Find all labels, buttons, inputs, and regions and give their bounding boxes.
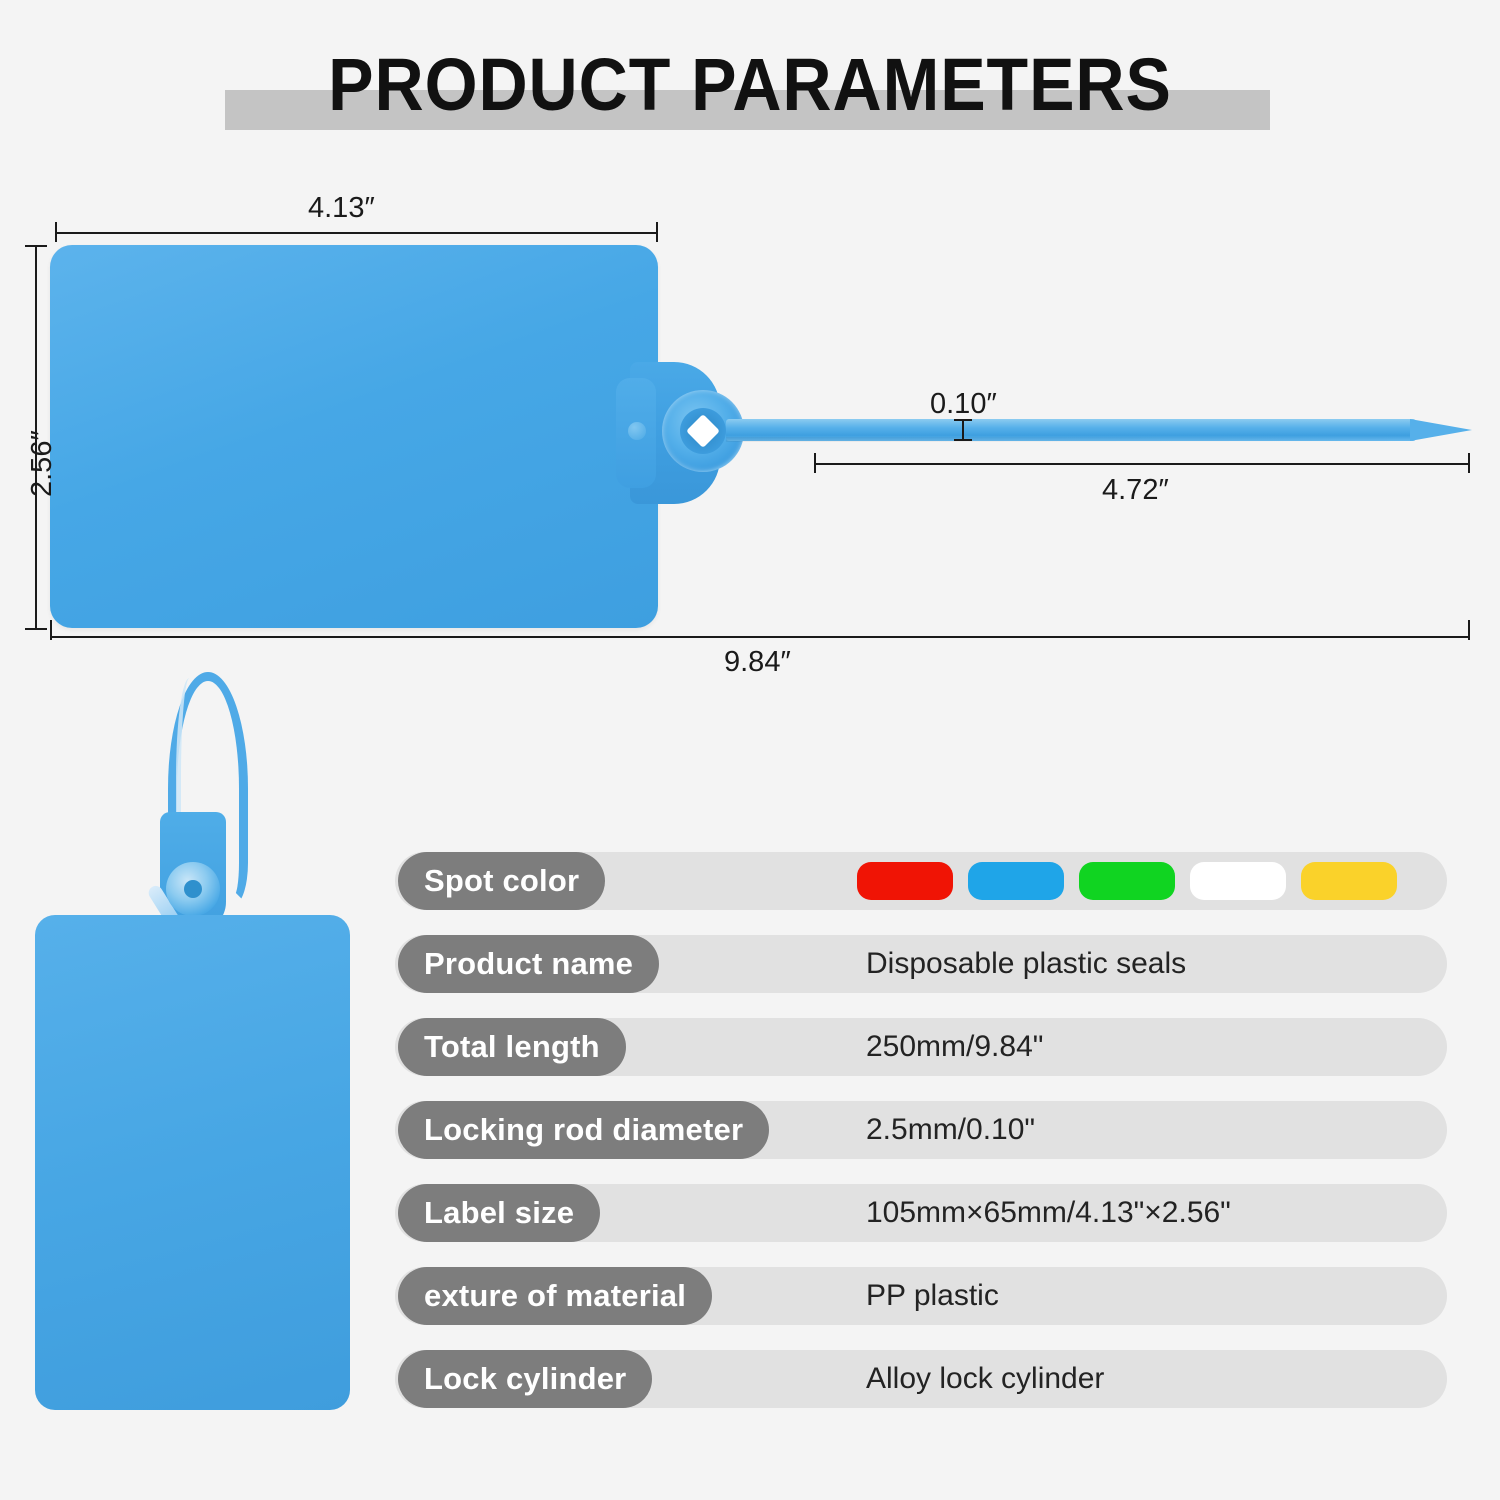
seal-photo-lock-head	[166, 862, 220, 916]
spec-label-product-name: Product name	[398, 935, 659, 993]
swatch-blue[interactable]	[968, 862, 1064, 900]
seal-lock-hole	[680, 408, 726, 454]
spot-color-swatches	[857, 852, 1397, 910]
table-row: Product name Disposable plastic seals	[395, 935, 1447, 993]
dimension-tick-rod-right	[1468, 453, 1470, 473]
dimension-label-width: 4.13″	[308, 192, 375, 225]
spec-table: Spot color Product name Disposable plast…	[395, 852, 1447, 1433]
dimension-tick-total-left	[50, 620, 52, 640]
dimension-line-rod-length	[814, 463, 1470, 465]
table-row: Total length 250mm/9.84"	[395, 1018, 1447, 1076]
dimension-line-total-length	[50, 636, 1470, 638]
dimension-tick-top	[25, 245, 47, 247]
seal-locking-rod-tip	[1410, 419, 1472, 441]
dimension-label-rod-length: 4.72″	[1102, 474, 1169, 507]
seal-locking-rod-shadow	[726, 437, 1426, 442]
dimension-tick-bottom	[25, 628, 47, 630]
swatch-red[interactable]	[857, 862, 953, 900]
spec-label-label-size: Label size	[398, 1184, 600, 1242]
table-row: exture of material PP plastic	[395, 1267, 1447, 1325]
swatch-white[interactable]	[1190, 862, 1286, 900]
dimension-label-rod-diameter: 0.10″	[930, 388, 997, 421]
swatch-yellow[interactable]	[1301, 862, 1397, 900]
dimension-tick-left	[55, 222, 57, 242]
table-row: Lock cylinder Alloy lock cylinder	[395, 1350, 1447, 1408]
dimension-label-total-length: 9.84″	[724, 646, 791, 679]
table-row: Spot color	[395, 852, 1447, 910]
spec-label-lock-cylinder: Lock cylinder	[398, 1350, 652, 1408]
spec-value-product-name: Disposable plastic seals	[866, 935, 1186, 993]
table-row: Label size 105mm×65mm/4.13"×2.56"	[395, 1184, 1447, 1242]
spec-value-total-length: 250mm/9.84"	[866, 1018, 1043, 1076]
dimension-tick-rod-left	[814, 453, 816, 473]
spec-label-spot-color: Spot color	[398, 852, 605, 910]
dimension-tick-right	[656, 222, 658, 242]
spec-value-texture-of-material: PP plastic	[866, 1267, 999, 1325]
seal-dimple	[628, 422, 646, 440]
table-row: Locking rod diameter 2.5mm/0.10"	[395, 1101, 1447, 1159]
spec-label-locking-rod-diameter: Locking rod diameter	[398, 1101, 769, 1159]
spec-value-lock-cylinder: Alloy lock cylinder	[866, 1350, 1104, 1408]
spec-value-label-size: 105mm×65mm/4.13"×2.56"	[866, 1184, 1231, 1242]
dimension-line-label-width	[55, 232, 658, 234]
product-parameters-infographic: PRODUCT PARAMETERS 4.13″ 2.56″ 0.10″ 4.7…	[0, 0, 1500, 1500]
swatch-green[interactable]	[1079, 862, 1175, 900]
seal-photo-label-panel	[35, 915, 350, 1410]
dimension-marker-rod-diameter	[962, 419, 964, 441]
dimension-tick-total-right	[1468, 620, 1470, 640]
spec-value-locking-rod-diameter: 2.5mm/0.10"	[866, 1101, 1035, 1159]
spec-label-texture-of-material: exture of material	[398, 1267, 712, 1325]
page-title: PRODUCT PARAMETERS	[60, 42, 1440, 127]
dimension-label-height: 2.56″	[26, 430, 59, 497]
spec-label-total-length: Total length	[398, 1018, 626, 1076]
seal-label-panel	[50, 245, 658, 628]
